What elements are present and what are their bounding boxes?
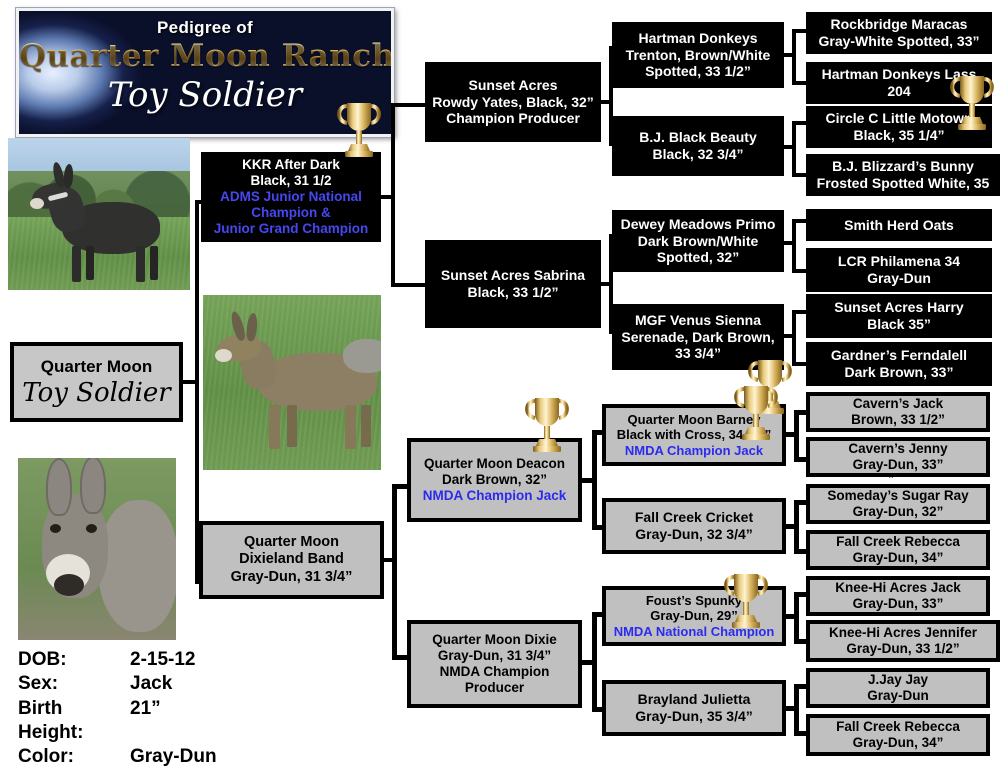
- node-line: Sunset Acres Harry: [834, 299, 963, 316]
- donkey-silhouette-black: [24, 172, 174, 282]
- photo-subject-toy-soldier: [18, 458, 176, 640]
- node-knee-hi-acres-jack[interactable]: Knee-Hi Acres Jack Gray-Dun, 33”: [806, 576, 990, 616]
- node-hartman-donkeys-trenton[interactable]: Hartman Donkeys Trenton, Brown/White Spo…: [612, 22, 784, 88]
- node-smith-herd-oats[interactable]: Smith Herd Oats: [806, 209, 992, 241]
- node-line: Fall Creek Rebecca: [836, 719, 960, 735]
- node-caverns-jack[interactable]: Cavern’s Jack Brown, 33 1/2”: [806, 392, 990, 432]
- info-row-color: Color: Gray-Dun: [18, 745, 258, 769]
- node-line: Cavern’s Jack: [853, 396, 943, 412]
- info-label-dob: DOB:: [18, 648, 130, 672]
- node-quarter-moon-dixie[interactable]: Quarter Moon Dixie Gray-Dun, 31 3/4” NMD…: [407, 620, 582, 708]
- node-line: Cavern’s Jenny: [848, 441, 947, 457]
- info-row-birth-height: Birth Height: 21”: [18, 697, 258, 746]
- node-line: Frosted Spotted White, 35: [817, 175, 990, 192]
- node-line: Gray-Dun: [867, 688, 929, 704]
- node-line: Knee-Hi Acres Jack: [835, 580, 961, 596]
- node-line: Trenton, Brown/White: [626, 47, 771, 64]
- node-sunset-acres-harry[interactable]: Sunset Acres Harry Black 35”: [806, 294, 992, 338]
- connector-g4-bracket: [792, 121, 796, 177]
- node-line: Rockbridge Maracas: [831, 16, 968, 33]
- info-label-sex: Sex:: [18, 672, 130, 696]
- node-line: Sunset Acres Sabrina: [441, 267, 585, 284]
- node-line: NMDA Champion: [440, 664, 550, 680]
- node-sunset-acres-sabrina[interactable]: Sunset Acres Sabrina Black, 33 1/2”: [425, 240, 601, 328]
- node-lcr-philamena-34[interactable]: LCR Philamena 34 Gray-Dun: [806, 248, 992, 292]
- node-line-title: NMDA Champion Jack: [423, 488, 567, 504]
- node-line: Black, 31 1/2: [250, 173, 331, 189]
- connector-gen2-dam-bracket: [392, 484, 397, 660]
- node-line: 204: [887, 83, 910, 100]
- connector-g4-in: [792, 29, 806, 33]
- node-bj-blizzards-bunny[interactable]: B.J. Blizzard’s Bunny Frosted Spotted Wh…: [806, 154, 1000, 196]
- node-line: Dark Brown, 32”: [442, 472, 547, 488]
- node-line: Gray-Dun, 33”: [853, 457, 944, 473]
- info-value-dob: 2-15-12: [130, 648, 196, 672]
- node-line: Gray-Dun: [867, 270, 931, 287]
- node-line: Smith Herd Oats: [844, 217, 954, 234]
- node-line: Gray-Dun, 32 3/4”: [635, 526, 753, 543]
- connector-g4-in: [792, 269, 806, 273]
- node-fall-creek-rebecca-1[interactable]: Fall Creek Rebecca Gray-Dun, 34”: [806, 530, 990, 570]
- connector-g4-bracket: [792, 29, 796, 85]
- node-line: Knee-Hi Acres Jennifer: [829, 625, 977, 641]
- node-bj-black-beauty[interactable]: B.J. Black Beauty Black, 32 3/4”: [612, 116, 784, 176]
- node-fall-creek-cricket[interactable]: Fall Creek Cricket Gray-Dun, 32 3/4”: [602, 498, 786, 554]
- connector-g4-bracket: [794, 592, 799, 644]
- node-dam-quarter-moon-dixieland-band[interactable]: Quarter Moon Dixieland Band Gray-Dun, 31…: [199, 521, 384, 599]
- banner-line-pedigree-of: Pedigree of: [19, 18, 391, 38]
- connector-gen2-sd-in: [391, 283, 425, 287]
- node-line: Quarter Moon: [244, 534, 339, 551]
- node-line: Gray-Dun, 33 1/2”: [846, 641, 959, 657]
- node-line: Gardner’s Ferndalell: [831, 347, 967, 364]
- node-line: Gray-Dun, 34”: [853, 550, 944, 566]
- node-line: Brayland Julietta: [638, 691, 751, 708]
- node-line: Dewey Meadows Primo: [621, 216, 776, 233]
- node-line: Champion Producer: [446, 110, 580, 127]
- info-row-dob: DOB: 2-15-12: [18, 648, 258, 672]
- connector-g3-bracket: [592, 612, 597, 712]
- node-line: Gray-Dun, 33”: [853, 596, 944, 612]
- connector-g4-bracket: [794, 500, 799, 554]
- node-somedays-sugar-ray[interactable]: Someday’s Sugar Ray Gray-Dun, 32”: [806, 484, 990, 524]
- node-line: Serenade, Dark Brown,: [621, 329, 774, 346]
- node-sunset-acres-rowdy-yates[interactable]: Sunset Acres Rowdy Yates, Black, 32” Cha…: [425, 62, 601, 142]
- donkey-silhouette-gray-dun: [213, 313, 381, 453]
- subject-info-block: DOB: 2-15-12 Sex: Jack Birth Height: 21”…: [18, 648, 258, 770]
- node-line: Fall Creek Rebecca: [836, 534, 960, 550]
- connector-g4-in: [792, 81, 806, 85]
- node-line: Gray-White Spotted, 33”: [818, 33, 979, 50]
- connector-g4-bracket: [792, 219, 796, 273]
- info-label-birth-height: Birth Height:: [18, 697, 130, 746]
- node-line: B.J. Black Beauty: [639, 129, 757, 146]
- info-row-sex: Sex: Jack: [18, 672, 258, 696]
- node-line: Brown, 33 1/2”: [851, 412, 945, 428]
- node-line-title: ADMS Junior National: [220, 189, 362, 205]
- trophy-icon-spunky: [718, 566, 774, 638]
- node-line: Black, 35 1/4”: [853, 127, 944, 144]
- subject-box-toy-soldier[interactable]: Quarter Moon Toy Soldier: [10, 342, 183, 422]
- trophy-icon-sire: [331, 95, 387, 167]
- node-line: Black, 33 1/2”: [467, 284, 558, 301]
- node-line: Gray-Dun, 32”: [853, 504, 944, 520]
- trophy-icon-barney: [728, 378, 784, 450]
- node-line: Someday’s Sugar Ray: [827, 488, 968, 504]
- subject-line-2: Toy Soldier: [22, 378, 170, 408]
- node-dewey-meadows-primo[interactable]: Dewey Meadows Primo Dark Brown/White Spo…: [612, 210, 784, 272]
- node-line: Hartman Donkeys: [638, 30, 757, 47]
- node-line: Sunset Acres: [469, 77, 558, 94]
- connector-g4-bracket: [794, 684, 799, 736]
- node-line: Gray-Dun, 31 3/4”: [231, 569, 353, 586]
- node-line: Gray-Dun, 34”: [853, 735, 944, 751]
- node-line: KKR After Dark: [242, 157, 340, 173]
- node-line: Gray-Dun, 35 3/4”: [635, 708, 753, 725]
- connector-g3-bracket: [592, 430, 597, 530]
- node-line: Dark Brown/White: [638, 233, 759, 250]
- node-line: Black 35”: [867, 316, 931, 333]
- connector-g4-in: [792, 219, 806, 223]
- node-line: Spotted, 33 1/2”: [645, 63, 751, 80]
- subject-line-1: Quarter Moon: [41, 357, 152, 377]
- node-line: LCR Philamena 34: [838, 253, 960, 270]
- node-line: MGF Venus Sienna: [635, 312, 761, 329]
- node-line: 33 3/4”: [675, 345, 721, 362]
- node-line: Rowdy Yates, Black, 32”: [432, 94, 594, 111]
- info-label-color: Color:: [18, 745, 130, 769]
- node-line-title: Champion &: [251, 205, 331, 221]
- node-line: Dixieland Band: [239, 551, 344, 568]
- node-line: Quarter Moon Dixie: [432, 632, 557, 648]
- node-line: Gray-Dun, 31 3/4”: [438, 648, 551, 664]
- connector-g4-in: [792, 173, 806, 177]
- pedigree-chart: Pedigree of Quarter Moon Ranch Toy Soldi…: [0, 0, 1000, 773]
- connector-g4-in: [792, 310, 806, 314]
- node-line-title: Junior Grand Champion: [214, 221, 369, 237]
- node-line: J.Jay Jay: [868, 672, 928, 688]
- node-knee-hi-acres-jennifer[interactable]: Knee-Hi Acres Jennifer Gray-Dun, 33 1/2”: [806, 620, 1000, 662]
- donkey-silhouette-head-gray: [24, 462, 174, 638]
- node-line: Fall Creek Cricket: [635, 509, 753, 526]
- photo-sire-kkr-after-dark: [8, 138, 190, 290]
- node-brayland-julietta[interactable]: Brayland Julietta Gray-Dun, 35 3/4”: [602, 680, 786, 736]
- trophy-icon-deacon: [519, 390, 575, 462]
- node-line: Producer: [465, 680, 524, 696]
- node-jjay-jay[interactable]: J.Jay Jay Gray-Dun: [806, 668, 990, 708]
- node-caverns-jenny[interactable]: Cavern’s Jenny Gray-Dun, 33”: [806, 437, 990, 477]
- node-line: Spotted, 32”: [657, 249, 739, 266]
- connector-g4-in: [792, 121, 806, 125]
- info-value-birth-height: 21”: [130, 697, 161, 746]
- node-line: Black, 32 3/4”: [652, 146, 743, 163]
- connector-gen2-sire-bracket: [391, 103, 395, 287]
- connector-gen2-ss-in: [391, 103, 425, 107]
- node-rockbridge-maracas[interactable]: Rockbridge Maracas Gray-White Spotted, 3…: [806, 12, 992, 54]
- node-line: Dark Brown, 33”: [845, 364, 954, 381]
- info-value-sex: Jack: [130, 672, 172, 696]
- trophy-icon-top-right: [944, 68, 1000, 140]
- info-value-color: Gray-Dun: [130, 745, 217, 769]
- node-fall-creek-rebecca-2[interactable]: Fall Creek Rebecca Gray-Dun, 34”: [806, 714, 990, 756]
- node-gardners-ferndalell[interactable]: Gardner’s Ferndalell Dark Brown, 33”: [806, 342, 992, 386]
- photo-dam-quarter-moon-dixieland-band: [203, 295, 381, 470]
- node-line: B.J. Blizzard’s Bunny: [832, 158, 974, 175]
- banner-line-ranch-name: Quarter Moon Ranch: [19, 38, 391, 74]
